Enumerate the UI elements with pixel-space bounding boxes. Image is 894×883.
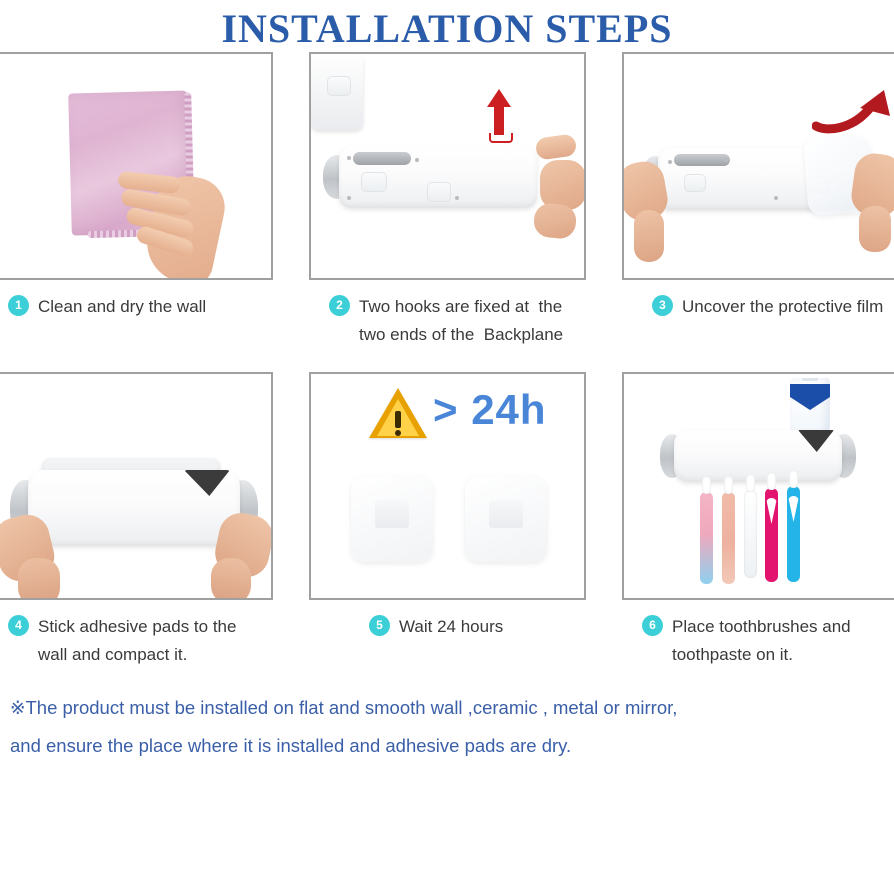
wait-duration-label: > 24h (433, 386, 547, 434)
illustration-uncover-film (624, 54, 894, 278)
step-cell-6: 6 Place toothbrushes and toothpaste on i… (622, 372, 894, 669)
screw-dot (774, 196, 778, 200)
device-backplane (339, 146, 537, 208)
warning-triangle-icon (369, 388, 427, 440)
steps-row-2: 4 Stick adhesive pads to the wall and co… (0, 372, 894, 669)
device-grille (353, 152, 411, 165)
screw-dot (455, 196, 459, 200)
step-badge-3: 3 (652, 295, 673, 316)
device-slot-left (361, 172, 387, 192)
wall-hook (311, 54, 363, 130)
step-text-6: Place toothbrushes and toothpaste on it. (672, 613, 851, 669)
step-image-4 (0, 372, 273, 600)
step-image-3 (622, 52, 894, 280)
steps-row-1: 1 Clean and dry the wall (0, 52, 894, 349)
illustration-stick-pads (0, 374, 271, 598)
screw-dot (347, 156, 351, 160)
hook-slot (327, 76, 351, 96)
illustration-wait-24h: > 24h (311, 374, 584, 598)
illustration-fix-hooks (311, 54, 584, 278)
hand-right-peeling-film (837, 154, 894, 254)
adhesive-pad-left (351, 476, 433, 562)
hand-left-holding-device (622, 158, 690, 270)
toothbrush-cyan (787, 486, 800, 582)
page-title: INSTALLATION STEPS (0, 0, 894, 52)
step-caption-6: 6 Place toothbrushes and toothpaste on i… (622, 613, 894, 669)
step-text-4: Stick adhesive pads to the wall and comp… (38, 613, 236, 669)
hand-pressing-cloth (116, 154, 220, 280)
step-image-5: > 24h (309, 372, 586, 600)
step-text-5: Wait 24 hours (399, 613, 503, 641)
step-text-2: Two hooks are fixed at the two ends of t… (359, 293, 563, 349)
screw-dot (724, 158, 728, 162)
toothpaste-tube (790, 378, 830, 436)
step-badge-6: 6 (642, 615, 663, 636)
step-caption-1: 1 Clean and dry the wall (0, 293, 273, 321)
step-badge-4: 4 (8, 615, 29, 636)
hand-left-pressing (0, 516, 82, 600)
illustration-clean-wall (0, 54, 271, 278)
screw-dot (415, 158, 419, 162)
adhesive-pad-right (465, 476, 547, 562)
step-caption-2: 2 Two hooks are fixed at the two ends of… (309, 293, 586, 349)
device-slot-mid (427, 182, 451, 202)
step-image-6 (622, 372, 894, 600)
hand-right-pressing (191, 514, 271, 600)
arrow-up-icon (487, 89, 511, 135)
footer-note: ※The product must be installed on flat a… (0, 669, 894, 765)
screw-dot (347, 196, 351, 200)
step-caption-5: 5 Wait 24 hours (309, 613, 586, 641)
step-text-1: Clean and dry the wall (38, 293, 206, 321)
step-image-1 (0, 52, 273, 280)
toothbrush-pink (700, 492, 713, 584)
step-cell-5: > 24h 5 Wait 24 hours (309, 372, 586, 669)
step-cell-4: 4 Stick adhesive pads to the wall and co… (0, 372, 273, 669)
step-text-3: Uncover the protective film (682, 293, 883, 321)
toothbrush-peach (722, 492, 735, 584)
illustration-mounted-holder (624, 374, 894, 598)
hand-holding-hook (534, 130, 586, 238)
step-badge-1: 1 (8, 295, 29, 316)
step-cell-1: 1 Clean and dry the wall (0, 52, 273, 349)
step-image-2 (309, 52, 586, 280)
toothbrush-magenta (765, 488, 778, 582)
step-badge-2: 2 (329, 295, 350, 316)
step-badge-5: 5 (369, 615, 390, 636)
step-cell-3: 3 Uncover the protective film (622, 52, 894, 349)
toothbrush-white (744, 490, 757, 578)
arrow-peel-icon (812, 86, 894, 134)
step-cell-2: 2 Two hooks are fixed at the two ends of… (309, 52, 586, 349)
step-caption-3: 3 Uncover the protective film (622, 293, 894, 321)
step-caption-4: 4 Stick adhesive pads to the wall and co… (0, 613, 273, 669)
